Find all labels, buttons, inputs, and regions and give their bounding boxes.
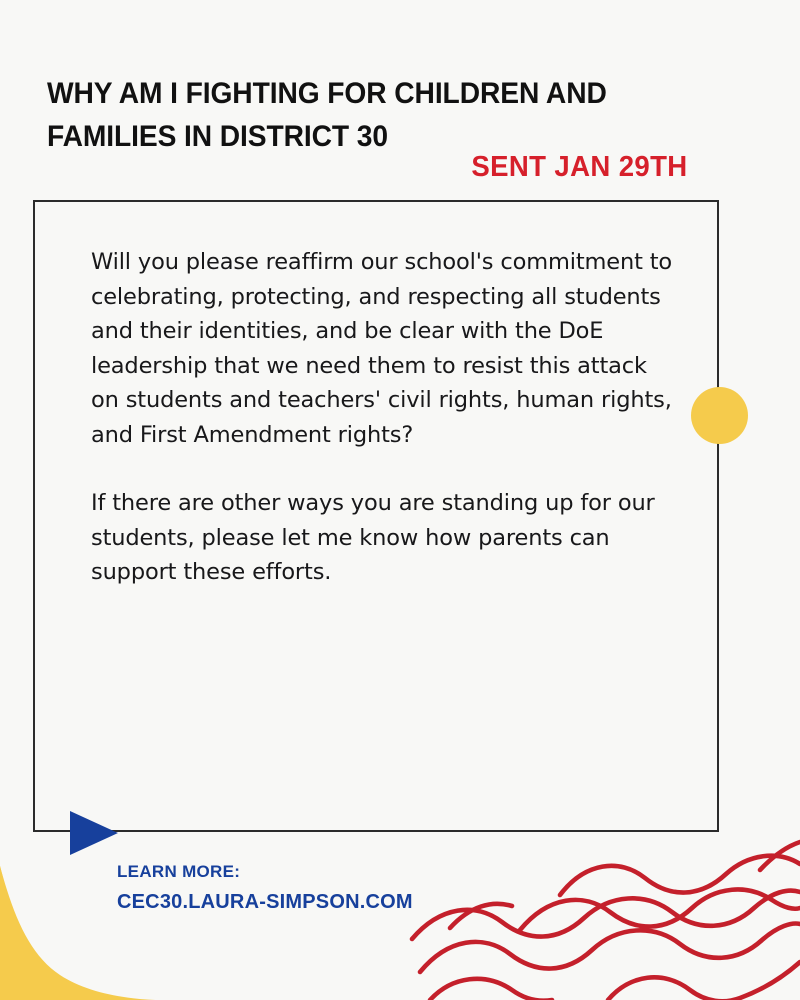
letter-paragraph-1: Will you please reaffirm our school's co… (91, 245, 681, 452)
letter-body: Will you please reaffirm our school's co… (91, 245, 681, 590)
learn-more-label: LEARN MORE: (117, 857, 413, 887)
page-title: WHY AM I FIGHTING FOR CHILDREN AND FAMIL… (47, 72, 649, 158)
red-wavy-lines (412, 842, 800, 1000)
learn-more-block[interactable]: LEARN MORE: CEC30.LAURA-SIMPSON.COM (117, 857, 413, 917)
letter-paragraph-2: If there are other ways you are standing… (91, 486, 681, 590)
letter-box: Will you please reaffirm our school's co… (33, 200, 719, 832)
blue-triangle-icon (70, 811, 118, 855)
sent-date-label: SENT JAN 29TH (472, 150, 688, 184)
website-url-link[interactable]: CEC30.LAURA-SIMPSON.COM (117, 887, 413, 917)
yellow-circle-icon (691, 387, 748, 444)
poster-canvas: WHY AM I FIGHTING FOR CHILDREN AND FAMIL… (0, 0, 800, 1000)
